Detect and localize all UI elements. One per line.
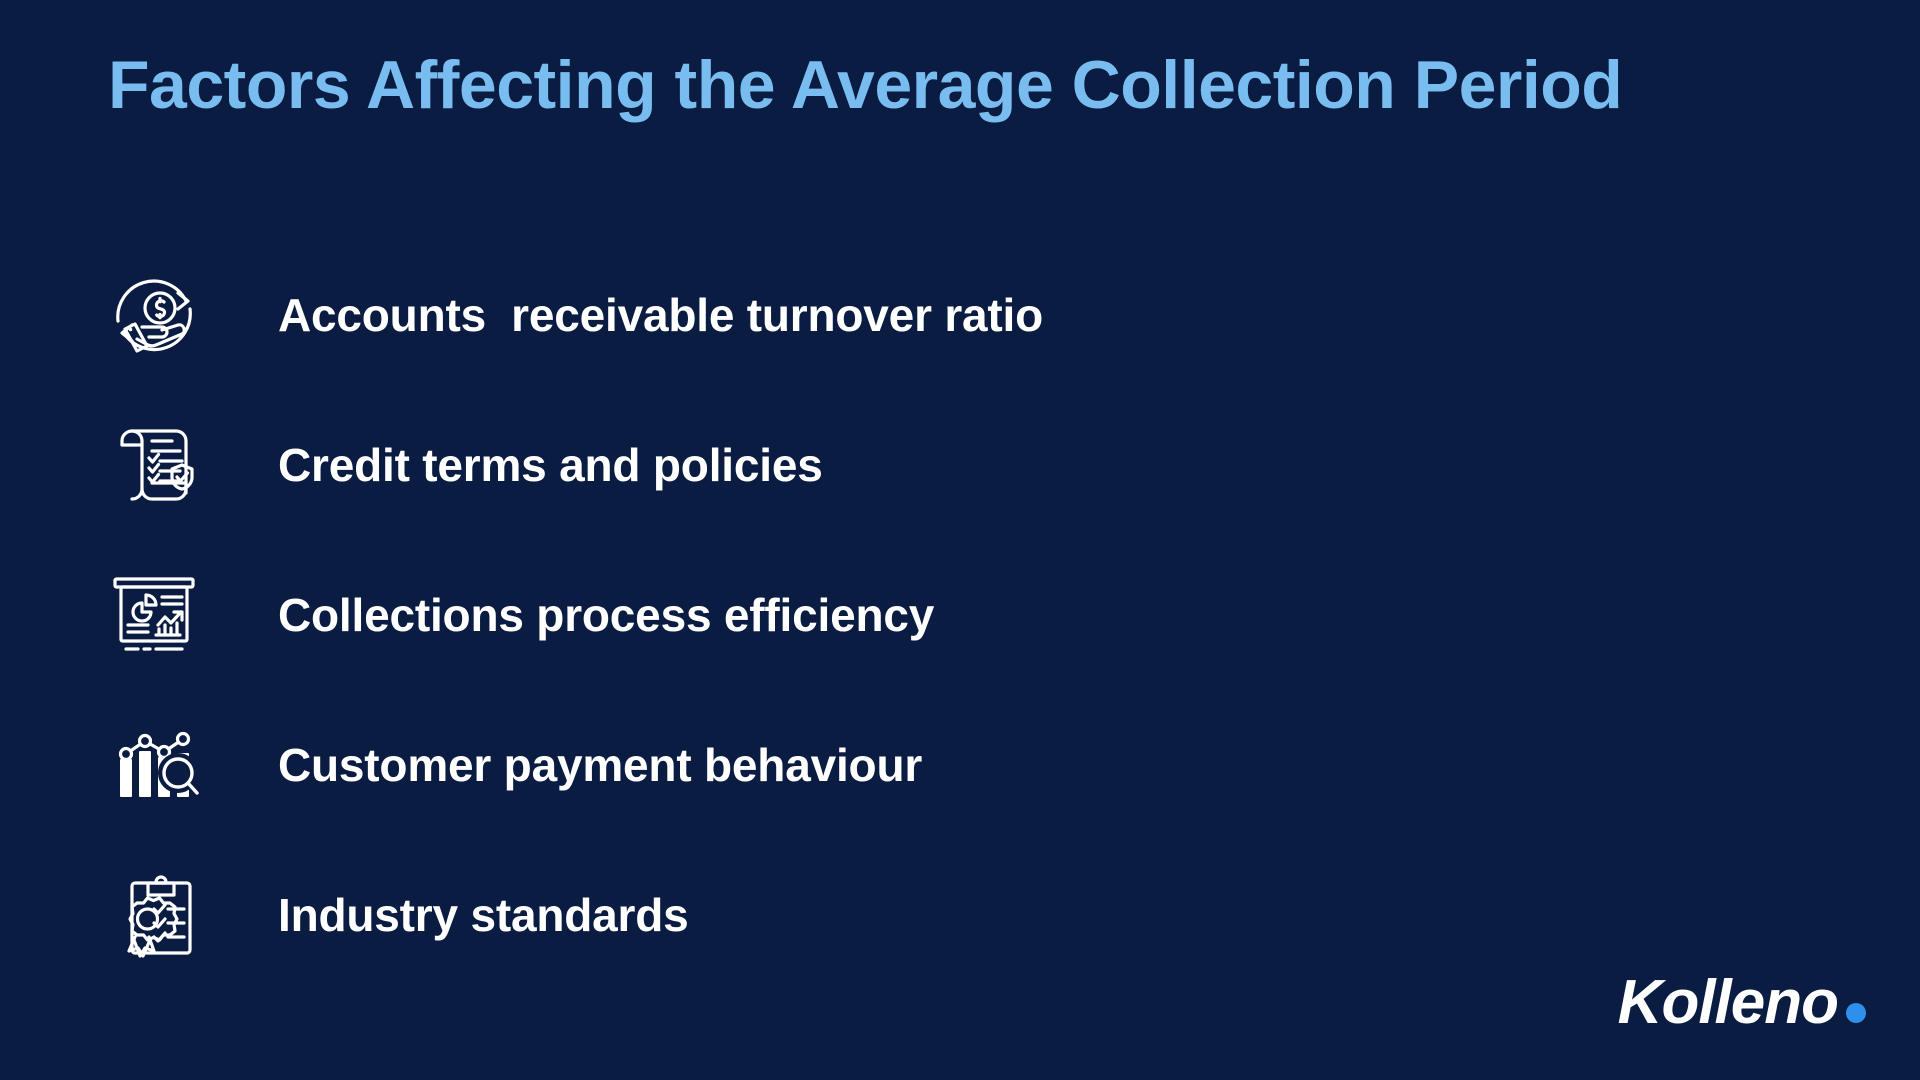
factor-list: Accounts receivable turnover ratio [100,240,1400,990]
brand-wordmark: Kolleno [1618,967,1838,1038]
list-item: Credit terms and policies [100,390,1400,540]
list-item: Collections process efficiency [100,540,1400,690]
list-item-label: Credit terms and policies [278,440,823,491]
slide-canvas: Factors Affecting the Average Collection… [0,0,1920,1080]
clipboard-award-checklist-icon [100,861,208,969]
presentation-analytics-board-icon [100,561,208,669]
list-item-label: Industry standards [278,890,689,941]
money-turnover-icon [100,261,208,369]
list-item: Industry standards [100,840,1400,990]
page-title: Factors Affecting the Average Collection… [108,48,1868,123]
list-item-label: Collections process efficiency [278,590,934,641]
bar-chart-magnifier-icon [100,711,208,819]
list-item: Accounts receivable turnover ratio [100,240,1400,390]
policy-scroll-checklist-icon [100,411,208,519]
brand-dot-icon [1846,1003,1866,1023]
list-item-label: Accounts receivable turnover ratio [278,290,1043,341]
list-item: Customer payment behaviour [100,690,1400,840]
list-item-label: Customer payment behaviour [278,740,922,791]
kolleno-logo: Kolleno [1618,967,1866,1038]
